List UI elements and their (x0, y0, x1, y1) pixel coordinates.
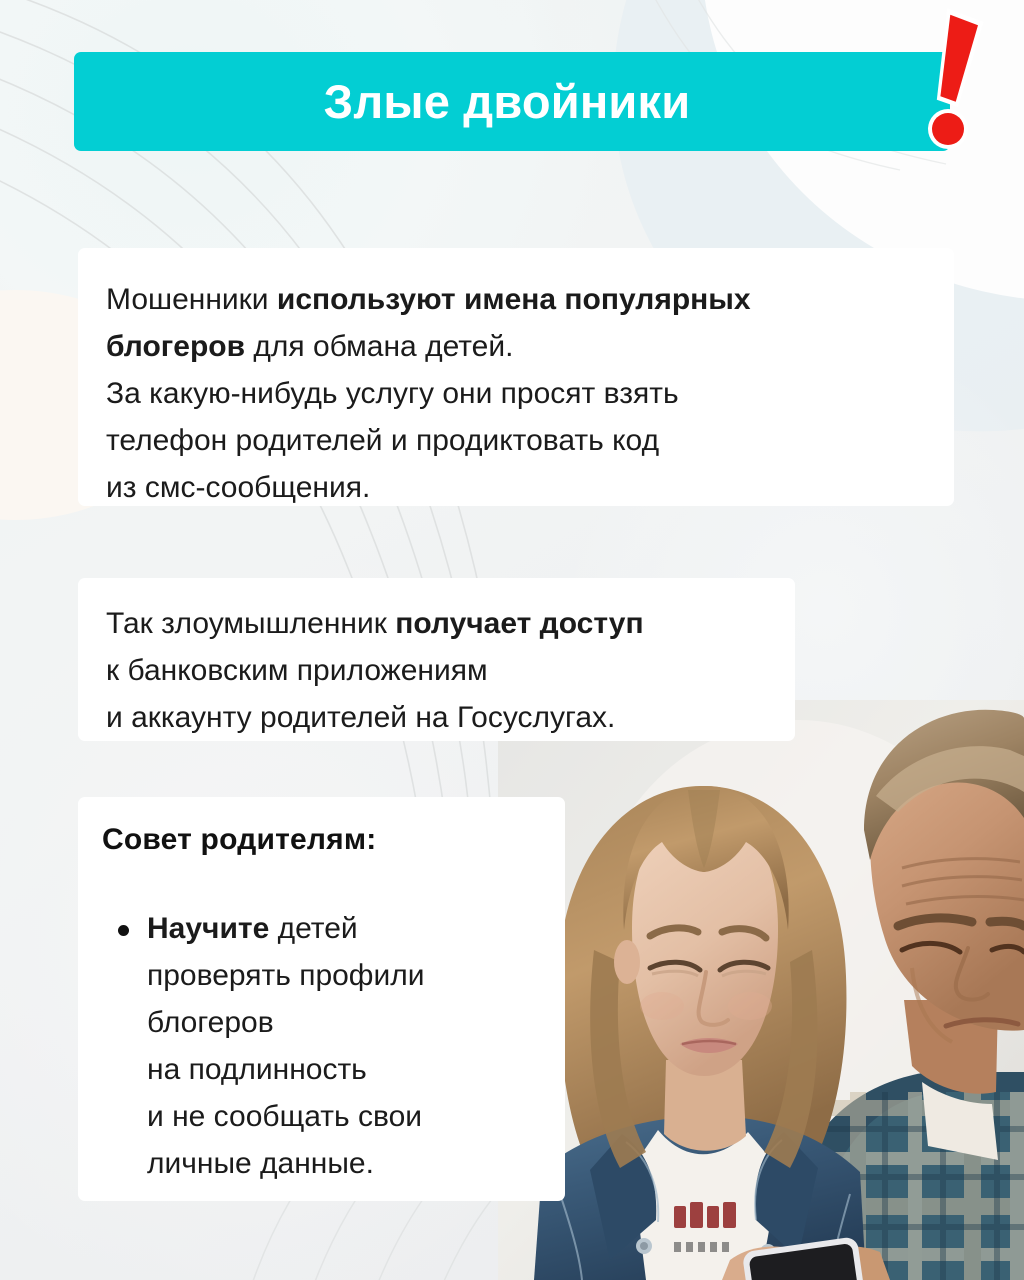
card-access-text: Так злоумышленник получает доступк банко… (78, 578, 795, 741)
card-intro-text: Мошенники используют имена популярныхбло… (78, 248, 954, 511)
bullet-dot-icon (118, 925, 129, 936)
photo-teen-girl-and-man-with-phone (498, 700, 1024, 1280)
exclamation-mark-icon (902, 2, 1020, 152)
list-item: Научите детейпроверять профилиблогеровна… (104, 905, 544, 1187)
page-title: Злые двойники (324, 78, 701, 125)
card-intro: Мошенники используют имена популярныхбло… (78, 248, 954, 506)
advice-heading: Совет родителям: (102, 823, 376, 857)
poster-root: Злые двойники Мошенники используют имена… (0, 0, 1024, 1280)
card-advice: Совет родителям: Научите детейпроверять … (78, 797, 565, 1201)
advice-bullet-text: Научите детейпроверять профилиблогеровна… (147, 905, 425, 1187)
card-access: Так злоумышленник получает доступк банко… (78, 578, 795, 741)
title-banner: Злые двойники (74, 52, 950, 151)
